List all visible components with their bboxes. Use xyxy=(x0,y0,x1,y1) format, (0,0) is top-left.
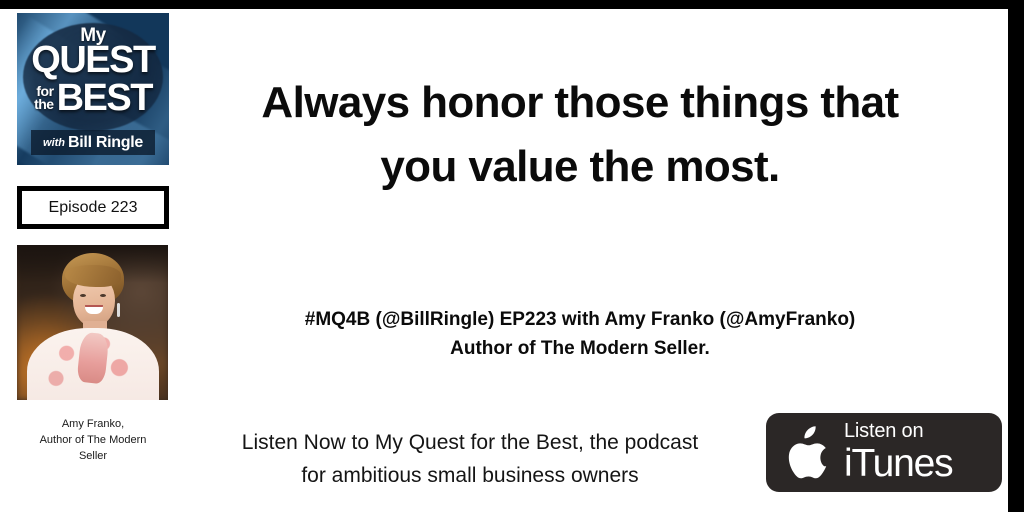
podcast-promo-card: My QUEST for the BEST with Bill Ringle E… xyxy=(0,0,1024,512)
cover-line-quest: QUEST xyxy=(17,41,169,79)
guest-headshot-photo xyxy=(17,245,168,400)
cover-host-bar: with Bill Ringle xyxy=(31,130,155,155)
itunes-listen-label: Listen on xyxy=(844,421,952,441)
cta-line-1: Listen Now to My Quest for the Best, the… xyxy=(190,427,750,460)
podcast-cover-art[interactable]: My QUEST for the BEST with Bill Ringle xyxy=(17,13,169,165)
guest-caption-line-1: Amy Franko, xyxy=(17,417,169,433)
cover-host-name: Bill Ringle xyxy=(68,134,143,152)
itunes-store-label: iTunes xyxy=(844,444,952,483)
headshot-eye-right xyxy=(100,294,106,297)
episode-attribution-line-1: #MQ4B (@BillRingle) EP223 with Amy Frank… xyxy=(190,306,970,335)
cta-line-2: for ambitious small business owners xyxy=(190,460,750,493)
guest-caption: Amy Franko, Author of The Modern Seller xyxy=(17,417,169,465)
quote-headline-line-2: you value the most. xyxy=(190,135,970,199)
main-content: Always honor those things that you value… xyxy=(190,9,988,512)
listen-on-itunes-button[interactable]: Listen on iTunes xyxy=(766,413,1002,492)
guest-caption-line-3: Seller xyxy=(17,449,169,465)
headshot-earring xyxy=(117,303,120,317)
sidebar: My QUEST for the BEST with Bill Ringle E… xyxy=(17,13,169,465)
frame-top-border xyxy=(0,0,1024,9)
episode-badge: Episode 223 xyxy=(17,186,169,229)
episode-badge-label: Episode 223 xyxy=(49,199,138,217)
cover-word-the: the xyxy=(34,98,54,111)
quote-headline-line-1: Always honor those things that xyxy=(190,71,970,135)
apple-logo-icon xyxy=(782,425,832,481)
quote-headline: Always honor those things that you value… xyxy=(190,71,970,199)
itunes-badge-text: Listen on iTunes xyxy=(844,421,952,485)
headshot-eye-left xyxy=(80,294,86,297)
cover-line-for-the: for the xyxy=(34,85,54,112)
episode-attribution-line-2: Author of The Modern Seller. xyxy=(190,335,970,364)
guest-caption-line-2: Author of The Modern xyxy=(17,433,169,449)
cover-line-best: BEST xyxy=(57,79,152,117)
cover-line-best-row: for the BEST xyxy=(17,79,169,117)
frame-right-gutter xyxy=(1004,9,1008,512)
episode-attribution: #MQ4B (@BillRingle) EP223 with Amy Frank… xyxy=(190,306,970,364)
listen-call-to-action: Listen Now to My Quest for the Best, the… xyxy=(190,427,750,492)
cover-art-text: My QUEST for the BEST with Bill Ringle xyxy=(17,13,169,165)
cover-host-prefix: with xyxy=(43,137,65,149)
frame-right-border xyxy=(1008,0,1024,512)
